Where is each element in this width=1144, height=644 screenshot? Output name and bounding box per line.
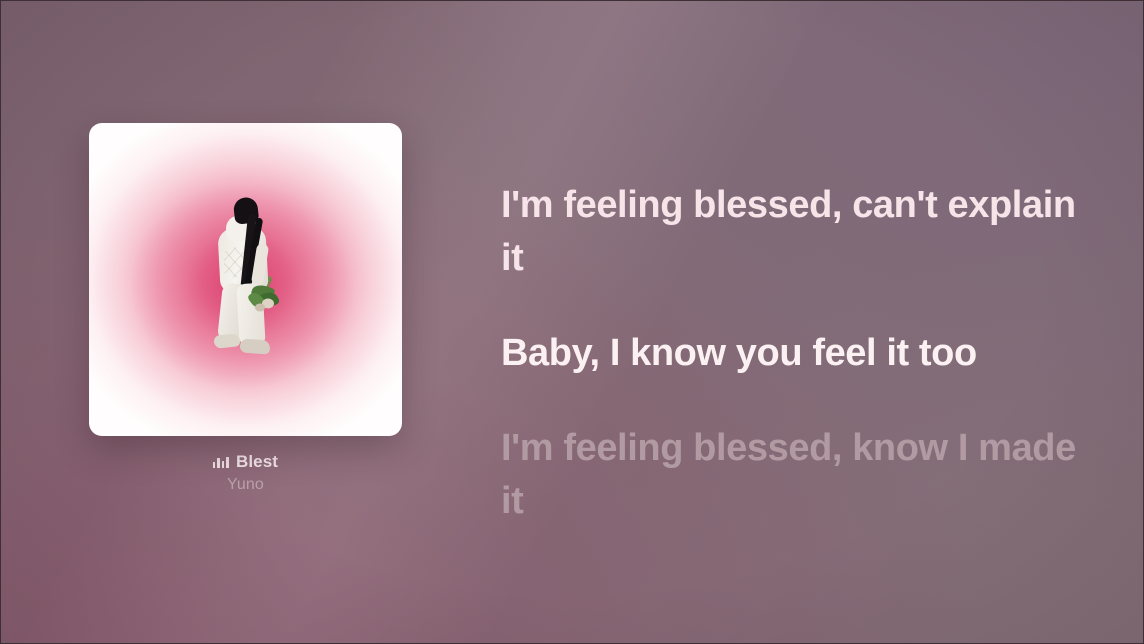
track-artist[interactable]: Yuno [89,476,402,494]
lyric-line-active[interactable]: Baby, I know you feel it too [501,327,1081,380]
equalizer-bars-icon [213,456,229,468]
now-playing-screen: Blest Yuno I'm feeling blessed, can't ex… [0,0,1144,644]
track-title-row: Blest [89,452,402,472]
album-artwork[interactable] [89,123,402,436]
artwork-shoe-left [213,333,240,349]
lyric-line-previous[interactable]: I'm feeling blessed, can't explain it [501,179,1081,285]
artwork-bloom-b [255,303,265,311]
lyrics-panel: I'm feeling blessed, can't explain it Ba… [501,179,1081,528]
lyric-line-next[interactable]: I'm feeling blessed, know I made it [501,422,1081,528]
artwork-shoe-right [239,338,270,354]
track-title[interactable]: Blest [236,452,278,472]
artwork-figure [186,197,306,362]
track-panel: Blest Yuno [89,123,402,494]
track-meta: Blest Yuno [89,452,402,494]
